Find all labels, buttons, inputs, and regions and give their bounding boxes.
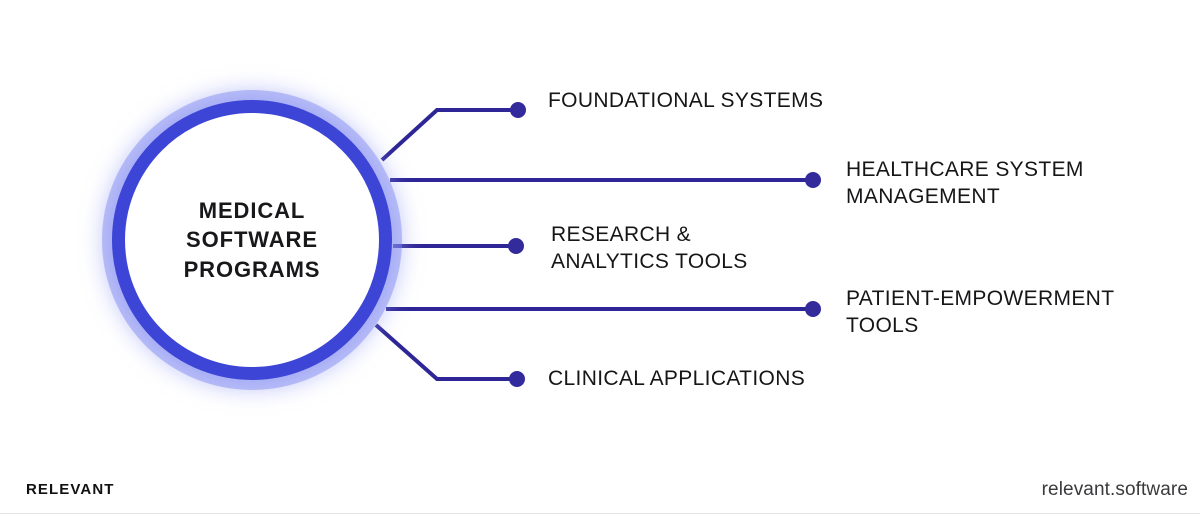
node-dot-healthcare-system-management [805, 172, 821, 188]
branch-label-healthcare-system-management: HEALTHCARE SYSTEM MANAGEMENT [846, 157, 1084, 211]
branch-label-foundational-systems: FOUNDATIONAL SYSTEMS [548, 88, 823, 115]
connector-clinical-applications [376, 325, 517, 379]
branch-label-clinical-applications: CLINICAL APPLICATIONS [548, 366, 805, 393]
node-dot-research-analytics-tools [508, 238, 524, 254]
branch-label-patient-empowerment-tools: PATIENT-EMPOWERMENT TOOLS [846, 286, 1114, 340]
connector-foundational-systems [382, 110, 518, 160]
central-hub-label: MEDICAL SOFTWARE PROGRAMS [184, 196, 321, 283]
node-dot-foundational-systems [510, 102, 526, 118]
node-dot-patient-empowerment-tools [805, 301, 821, 317]
diagram-canvas: MEDICAL SOFTWARE PROGRAMS FOUNDATIONAL S… [0, 0, 1200, 514]
branch-label-research-analytics-tools: RESEARCH & ANALYTICS TOOLS [551, 222, 748, 276]
node-dot-clinical-applications [509, 371, 525, 387]
central-hub-circle: MEDICAL SOFTWARE PROGRAMS [112, 100, 392, 380]
